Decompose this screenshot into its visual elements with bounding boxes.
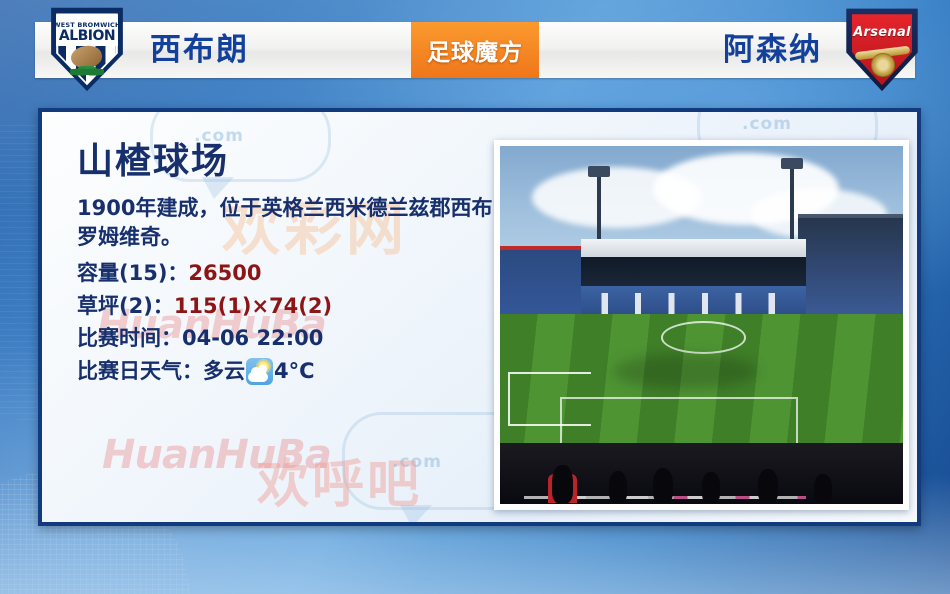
away-team-name: 阿森纳 bbox=[723, 25, 822, 75]
photo-seat-lettering bbox=[589, 293, 799, 314]
photo-spectator bbox=[609, 471, 627, 503]
partly-cloudy-icon bbox=[246, 358, 273, 385]
capacity-value: 26500 bbox=[188, 261, 261, 285]
wba-crest-icon: WEST BROMWICH ALBION bbox=[48, 6, 126, 92]
photo-spectator bbox=[814, 474, 832, 503]
pitch-row: 草坪(2)：115(1)×74(2) bbox=[77, 290, 497, 323]
photo-crowd bbox=[500, 443, 903, 504]
weather-temperature: 4°C bbox=[274, 359, 315, 383]
photo-left-stand bbox=[500, 250, 589, 322]
arsenal-crest-text: Arsenal bbox=[844, 25, 920, 40]
stadium-photo-frame[interactable] bbox=[494, 140, 909, 510]
pitch-value: 115(1)×74(2) bbox=[174, 294, 332, 318]
capacity-row: 容量(15)：26500 bbox=[77, 257, 497, 290]
photo-centre-circle bbox=[661, 321, 746, 354]
holly-leaf-icon bbox=[70, 66, 104, 78]
screen: WEST BROMWICH ALBION 西布朗 足球魔方 阿森纳 Arsena… bbox=[0, 0, 950, 594]
photo-spectator bbox=[702, 472, 720, 502]
site-logo-text: 足球魔方 bbox=[427, 33, 523, 67]
stadium-info-panel: .com .com .com HuanHuBa HuanHuBa 欢彩网 欢呼吧… bbox=[38, 108, 921, 526]
photo-penalty-box bbox=[560, 397, 798, 446]
watermark-dotcom: .com bbox=[392, 452, 442, 472]
match-time-label: 比赛时间： bbox=[77, 326, 182, 350]
watermark-brand-latin: HuanHuBa bbox=[102, 432, 331, 478]
arsenal-crest-icon: Arsenal bbox=[844, 6, 920, 92]
site-logo[interactable]: 足球魔方 bbox=[411, 22, 539, 78]
stadium-title: 山楂球场 bbox=[77, 142, 497, 182]
pitch-label: 草坪(2)： bbox=[77, 294, 174, 318]
watermark-brand-cn: 欢呼吧 bbox=[257, 442, 422, 517]
stadium-details: 山楂球场 1900年建成，位于英格兰西米德兰兹郡西布罗姆维奇。 容量(15)：2… bbox=[77, 142, 497, 387]
cannon-wheel-icon bbox=[871, 53, 894, 77]
photo-spectator bbox=[552, 465, 572, 503]
photo-main-roof bbox=[581, 239, 807, 257]
weather-row: 比赛日天气：多云4°C bbox=[77, 355, 497, 388]
capacity-label: 容量(15)： bbox=[77, 261, 188, 285]
match-time-row: 比赛时间：04-06 22:00 bbox=[77, 322, 497, 355]
wba-crest-main-text: ALBION bbox=[48, 28, 126, 44]
photo-right-stand bbox=[798, 218, 903, 325]
photo-goal bbox=[508, 372, 591, 426]
watermark-dotcom: .com bbox=[742, 114, 792, 134]
weather-condition: 多云 bbox=[203, 359, 245, 383]
weather-label: 比赛日天气： bbox=[77, 359, 203, 383]
match-time-value: 04-06 22:00 bbox=[182, 326, 323, 350]
stadium-photo bbox=[500, 146, 903, 504]
home-team-name: 西布朗 bbox=[150, 25, 249, 75]
photo-spectator bbox=[653, 468, 673, 503]
stadium-description: 1900年建成，位于英格兰西米德兰兹郡西布罗姆维奇。 bbox=[77, 194, 497, 254]
photo-main-stand bbox=[581, 257, 807, 286]
photo-pitch-shadow bbox=[613, 354, 758, 390]
match-header: WEST BROMWICH ALBION 西布朗 足球魔方 阿森纳 Arsena… bbox=[0, 0, 950, 100]
photo-spectator bbox=[758, 469, 778, 502]
